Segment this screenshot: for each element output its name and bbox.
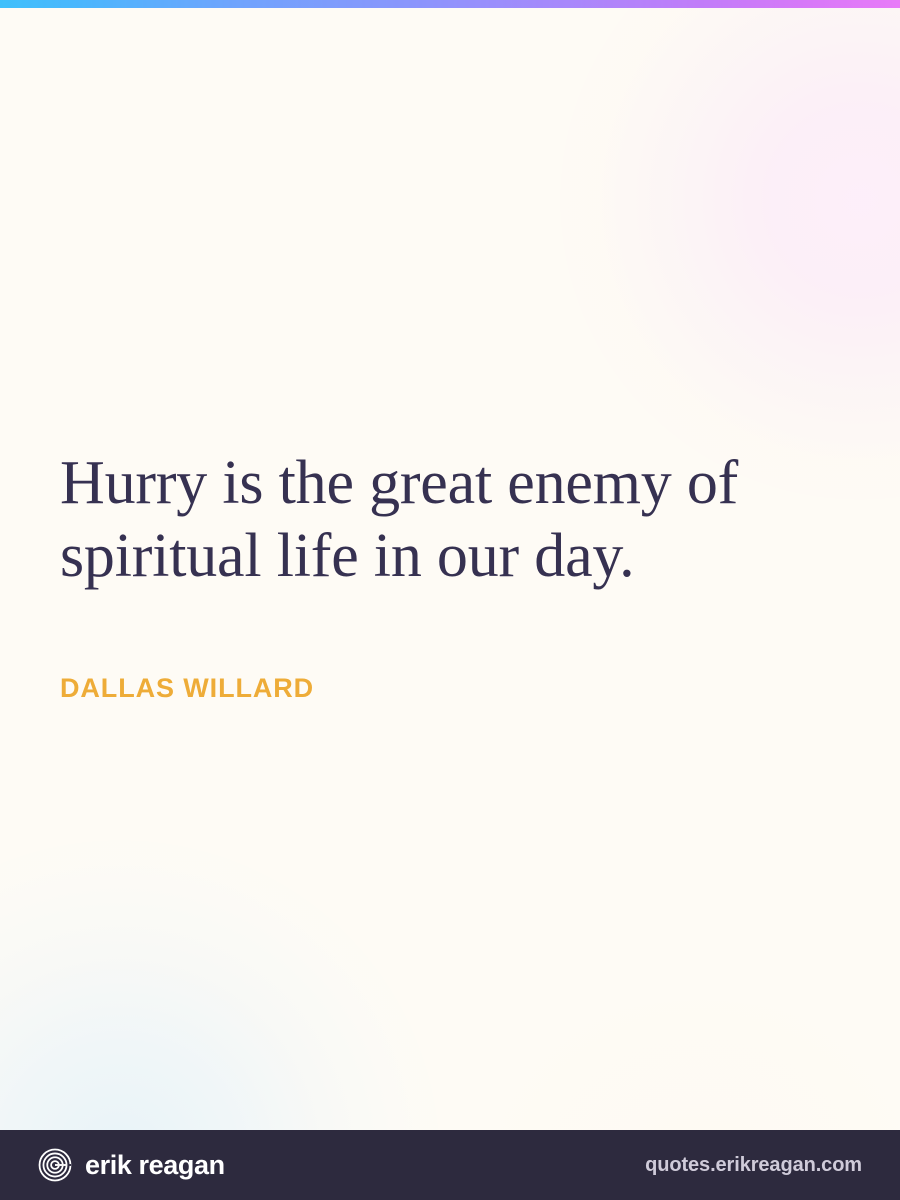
- brand-name: erik reagan: [85, 1152, 225, 1179]
- brand-lockup[interactable]: erik reagan: [38, 1148, 225, 1182]
- quote-card: Hurry is the great enemy of spiritual li…: [0, 0, 900, 1200]
- top-accent-gradient-bar: [0, 0, 900, 8]
- quote-attribution: DALLAS WILLARD: [60, 673, 314, 704]
- quote-content: Hurry is the great enemy of spiritual li…: [0, 0, 900, 1130]
- erik-reagan-circles-e-logo-icon: [38, 1148, 72, 1182]
- quote-text: Hurry is the great enemy of spiritual li…: [60, 447, 820, 593]
- footer-bar: erik reagan quotes.erikreagan.com: [0, 1130, 900, 1200]
- footer-site-url[interactable]: quotes.erikreagan.com: [645, 1155, 862, 1175]
